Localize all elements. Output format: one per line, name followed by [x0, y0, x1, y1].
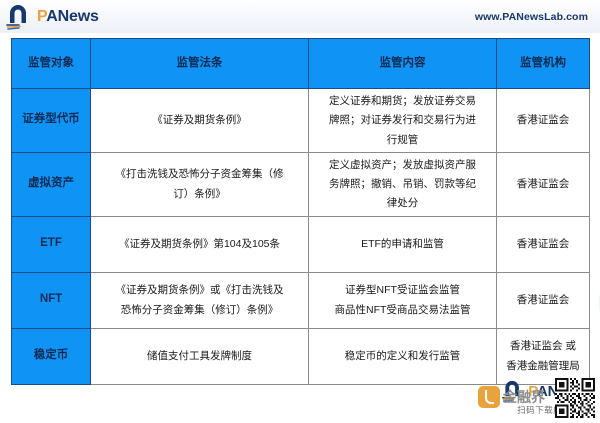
cell-line: 务牌照；撤销、吊销、罚款等纪	[314, 176, 491, 192]
cell-authority: 香港证监会	[497, 216, 590, 272]
cell-law: 《证券及期货条例》或《打击洗钱及 恐怖分子资金筹集（修订）条例》	[91, 272, 309, 328]
brand-wordmark-prefix: P	[37, 8, 46, 25]
panews-logo-icon	[6, 3, 32, 31]
column-header-law: 监管法条	[91, 39, 309, 89]
cell-authority: 香港证监会	[497, 89, 590, 153]
cell-line: 证券型NFT受证监会监管	[314, 282, 491, 298]
cell-line: 定义虚拟资产；发放虚拟资产服	[314, 157, 491, 173]
cell-line: 律处分	[314, 195, 491, 211]
cell-line: 恐怖分子资金筹集（修订）条例》	[96, 302, 303, 318]
table-header: 监管对象 监管法条 监管内容 监管机构	[12, 39, 590, 89]
cell-line: 稳定币的定义和发行监管	[314, 348, 491, 364]
app-name-label: 金融界	[503, 387, 545, 407]
brand-wordmark: PANews	[37, 8, 99, 26]
cell-line: ETF的申请和监管	[314, 236, 491, 252]
brand-logo: PANews	[6, 3, 99, 31]
cell-line: 《证券及期货条例》或《打击洗钱及	[96, 282, 303, 298]
cell-line: 香港证监会 或	[502, 338, 584, 354]
app-badge: 金融界	[478, 386, 545, 408]
table-row: ETF 《证券及期货条例》第104及105条 ETF的申请和监管 香港证监会	[12, 216, 590, 272]
cell-subject: NFT	[12, 272, 91, 328]
cell-authority: 香港证监会	[497, 152, 590, 216]
top-header-bar: PANews www.PANewsLab.com	[0, 0, 600, 33]
cell-authority: 香港证监会	[497, 272, 590, 328]
table-row: NFT 《证券及期货条例》或《打击洗钱及 恐怖分子资金筹集（修订）条例》 证券型…	[12, 272, 590, 328]
cell-law: 《证券及期货条例》第104及105条	[91, 216, 309, 272]
table-row: 虚拟资产 《打击洗钱及恐怖分子资金筹集（修 订）条例》 定义虚拟资产；发放虚拟资…	[12, 152, 590, 216]
brand-wordmark-rest: ANews	[46, 8, 98, 25]
cell-line: 定义证券和期货；发放证券交易	[314, 93, 491, 109]
table-header-row: 监管对象 监管法条 监管内容 监管机构	[12, 39, 590, 89]
regulation-table: 监管对象 监管法条 监管内容 监管机构 证券型代币 《证券及期货条例》 定义证券…	[11, 38, 590, 385]
cell-subject: ETF	[12, 216, 91, 272]
cell-law: 《证券及期货条例》	[91, 89, 309, 153]
column-header-authority: 监管机构	[497, 39, 590, 89]
cell-line: 订）条例》	[96, 186, 303, 202]
app-logo-icon	[478, 386, 500, 408]
cell-subject: 证券型代币	[12, 89, 91, 153]
cell-law: 《打击洗钱及恐怖分子资金筹集（修 订）条例》	[91, 152, 309, 216]
regulation-table-container: 监管对象 监管法条 监管内容 监管机构 证券型代币 《证券及期货条例》 定义证券…	[11, 38, 589, 385]
cell-subject: 虚拟资产	[12, 152, 91, 216]
site-url: www.PANewsLab.com	[475, 11, 588, 23]
cell-line: 香港金融管理局	[502, 358, 584, 374]
column-header-content: 监管内容	[309, 39, 497, 89]
cell-line: 行规管	[314, 132, 491, 148]
table-body: 证券型代币 《证券及期货条例》 定义证券和期货；发放证券交易 牌照；对证券发行和…	[12, 89, 590, 385]
cell-content: 证券型NFT受证监会监管 商品性NFT受商品交易法监管	[309, 272, 497, 328]
cell-content: 定义虚拟资产；发放虚拟资产服 务牌照；撤销、吊销、罚款等纪 律处分	[309, 152, 497, 216]
cell-line: 牌照；对证券发行和交易行为进	[314, 112, 491, 128]
cell-content: 定义证券和期货；发放证券交易 牌照；对证券发行和交易行为进 行规管	[309, 89, 497, 153]
qr-code	[555, 378, 595, 418]
column-header-subject: 监管对象	[12, 39, 91, 89]
cell-content: ETF的申请和监管	[309, 216, 497, 272]
table-row: 证券型代币 《证券及期货条例》 定义证券和期货；发放证券交易 牌照；对证券发行和…	[12, 89, 590, 153]
cell-line: 《打击洗钱及恐怖分子资金筹集（修	[96, 166, 303, 182]
cell-line: 商品性NFT受商品交易法监管	[314, 302, 491, 318]
